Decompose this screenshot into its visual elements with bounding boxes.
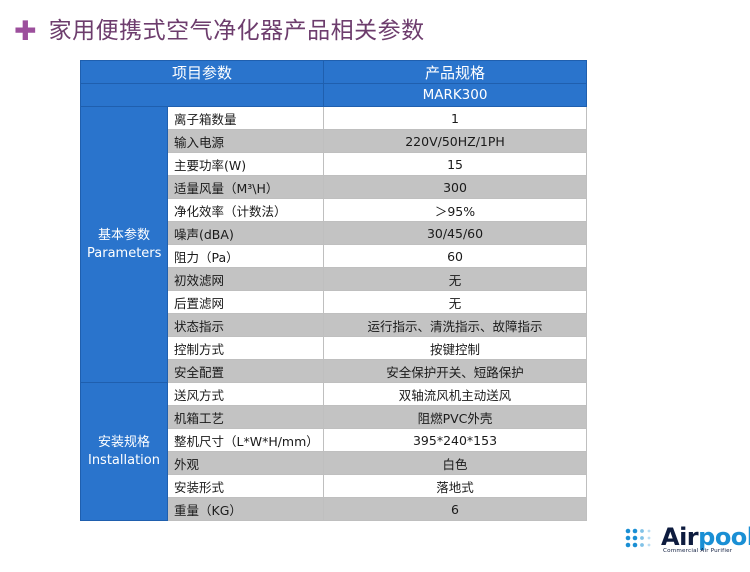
table-header-row: 项目参数产品规格 <box>81 61 587 84</box>
row-item-label: 状态指示 <box>168 314 324 337</box>
row-item-label: 初效滤网 <box>168 268 324 291</box>
row-item-label: 主要功率(W) <box>168 153 324 176</box>
spec-table: 项目参数产品规格MARK300基本参数Parameters离子箱数量1输入电源2… <box>80 60 587 521</box>
row-item-value: 60 <box>324 245 587 268</box>
row-item-label: 噪声(dBA) <box>168 222 324 245</box>
row-item-label: 后置滤网 <box>168 291 324 314</box>
airpool-logo: Airpool Commercial Air Purifier <box>625 524 743 562</box>
row-item-value: 无 <box>324 268 587 291</box>
row-item-value: 15 <box>324 153 587 176</box>
group-label-cn: 基本参数 <box>98 228 150 243</box>
row-item-label: 重量（KG） <box>168 498 324 521</box>
header-item-label: 项目参数 <box>81 61 324 84</box>
row-item-label: 安装形式 <box>168 475 324 498</box>
row-item-value: 无 <box>324 291 587 314</box>
row-item-label: 机箱工艺 <box>168 406 324 429</box>
group-label-en: Parameters <box>87 245 161 263</box>
row-item-value: 300 <box>324 176 587 199</box>
logo-word-pool: pool <box>698 523 750 551</box>
table-row: 基本参数Parameters离子箱数量1 <box>81 107 587 130</box>
group-label-2: 安装规格Installation <box>81 383 168 521</box>
plus-icon: ✚ <box>14 18 37 45</box>
row-item-value: 白色 <box>324 452 587 475</box>
page-title: ✚ 家用便携式空气净化器产品相关参数 <box>14 18 425 45</box>
header-model-value: MARK300 <box>324 84 587 107</box>
row-item-label: 离子箱数量 <box>168 107 324 130</box>
row-item-label: 安全配置 <box>168 360 324 383</box>
row-item-value: 395*240*153 <box>324 429 587 452</box>
group-label-en: Installation <box>87 452 161 470</box>
group-label-cn: 安装规格 <box>98 435 150 450</box>
dot-matrix-icon <box>625 528 657 552</box>
header-item-blank <box>81 84 324 107</box>
group-label-1: 基本参数Parameters <box>81 107 168 383</box>
row-item-value: ＞95% <box>324 199 587 222</box>
row-item-value: 按键控制 <box>324 337 587 360</box>
row-item-label: 外观 <box>168 452 324 475</box>
row-item-label: 输入电源 <box>168 130 324 153</box>
row-item-label: 整机尺寸（L*W*H/mm） <box>168 429 324 452</box>
logo-word-air: Air <box>661 523 698 551</box>
header-product-label: 产品规格 <box>324 61 587 84</box>
row-item-value: 220V/50HZ/1PH <box>324 130 587 153</box>
logo-wordmark: Airpool <box>661 524 750 550</box>
table-row: 安装规格Installation送风方式双轴流风机主动送风 <box>81 383 587 406</box>
row-item-value: 运行指示、清洗指示、故障指示 <box>324 314 587 337</box>
row-item-label: 控制方式 <box>168 337 324 360</box>
row-item-value: 1 <box>324 107 587 130</box>
row-item-value: 落地式 <box>324 475 587 498</box>
row-item-value: 30/45/60 <box>324 222 587 245</box>
row-item-value: 阻燃PVC外壳 <box>324 406 587 429</box>
row-item-value: 6 <box>324 498 587 521</box>
spec-table-body: 项目参数产品规格MARK300基本参数Parameters离子箱数量1输入电源2… <box>81 61 587 521</box>
row-item-value: 双轴流风机主动送风 <box>324 383 587 406</box>
table-model-row: MARK300 <box>81 84 587 107</box>
page-title-text: 家用便携式空气净化器产品相关参数 <box>49 19 425 44</box>
row-item-label: 适量风量（M³\H） <box>168 176 324 199</box>
row-item-label: 阻力（Pa） <box>168 245 324 268</box>
row-item-label: 净化效率（计数法） <box>168 199 324 222</box>
row-item-label: 送风方式 <box>168 383 324 406</box>
row-item-value: 安全保护开关、短路保护 <box>324 360 587 383</box>
logo-tagline: Commercial Air Purifier <box>663 548 732 554</box>
